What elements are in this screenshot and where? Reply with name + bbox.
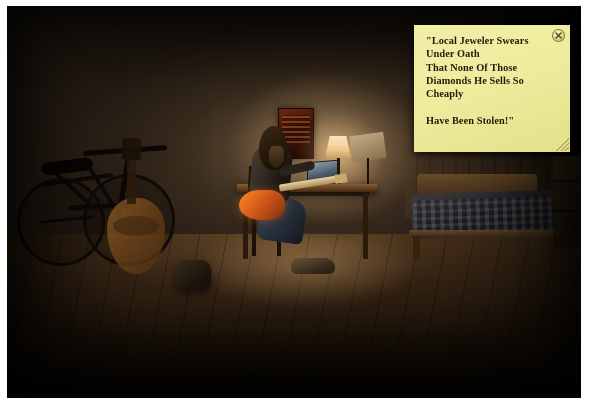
bed-blanket bbox=[412, 195, 567, 234]
electric-guitar bbox=[239, 174, 343, 220]
shelf bbox=[553, 156, 581, 248]
electric-guitar-neck bbox=[279, 175, 339, 191]
acoustic-guitar-waist bbox=[113, 216, 159, 236]
acoustic-guitar-body bbox=[107, 198, 165, 274]
bag bbox=[175, 260, 211, 290]
shoes bbox=[291, 258, 335, 274]
electric-guitar-headstock bbox=[334, 173, 347, 184]
electric-guitar-body bbox=[239, 190, 285, 220]
screenshot-stage: "Local Jeweler Swears Under Oath That No… bbox=[0, 0, 600, 412]
bed-leg-left bbox=[413, 236, 420, 260]
bed-frame bbox=[409, 230, 575, 238]
person-beard bbox=[269, 146, 284, 168]
resize-grip-icon[interactable] bbox=[554, 136, 569, 151]
sticky-note-text: "Local Jeweler Swears Under Oath That No… bbox=[426, 35, 560, 128]
shelf-line-2 bbox=[553, 210, 581, 212]
acoustic-guitar bbox=[103, 154, 167, 274]
desk-leg-right bbox=[363, 193, 368, 259]
acoustic-guitar-headstock bbox=[122, 138, 141, 160]
bicycle-saddle bbox=[40, 157, 93, 176]
sticky-note[interactable]: "Local Jeweler Swears Under Oath That No… bbox=[414, 25, 570, 152]
shelf-line-1 bbox=[553, 180, 581, 182]
close-icon[interactable] bbox=[552, 29, 565, 42]
